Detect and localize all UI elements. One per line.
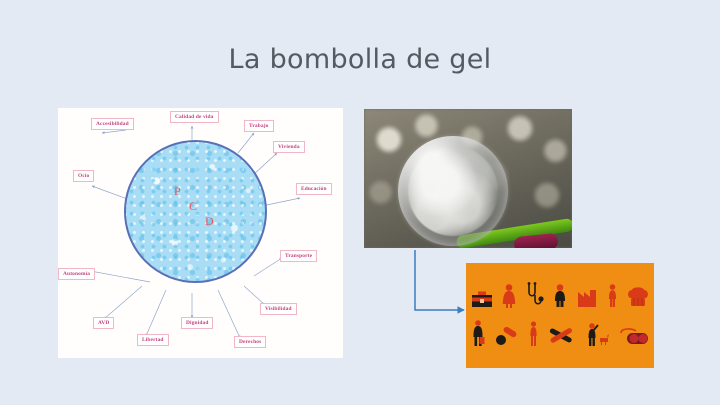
- bubble-letters: P C D: [126, 142, 265, 281]
- person-figure-icon: [553, 284, 567, 313]
- crossed-tools-icon: [548, 323, 574, 352]
- icon-row-bottom: [466, 318, 654, 352]
- diagram-node: Dignidad: [181, 317, 213, 329]
- female-figure-icon: [502, 284, 516, 313]
- sausage-icon: [618, 327, 650, 352]
- bubble-letter-p: P: [174, 184, 181, 199]
- diagram-node: Derechos: [234, 336, 266, 348]
- slide-canvas: La bombolla de gel P C D AccesibilidadCa…: [0, 0, 720, 405]
- factory-icon: [577, 288, 597, 313]
- toolbox-icon: [471, 290, 493, 313]
- diagram-node: Educación: [296, 183, 332, 195]
- diagram-node: Autonomía: [58, 268, 95, 280]
- diagram-node: Calidad de vida: [170, 111, 219, 123]
- stethoscope-icon: [526, 282, 544, 313]
- standing-person-icon: [607, 284, 618, 313]
- bubble-photo: [364, 109, 572, 248]
- diagram-node: Trabajo: [244, 120, 274, 132]
- person-with-dog-icon: [583, 321, 609, 352]
- photo-soap-bubble: [398, 136, 508, 246]
- chef-hat-icon: [627, 286, 649, 313]
- bubble-diagram-card: P C D AccesibilidadCalidad de vidaTrabaj…: [58, 108, 343, 358]
- gel-bubble-circle: P C D: [124, 140, 267, 283]
- diagram-node: Transporte: [280, 250, 317, 262]
- bubble-letter-d: D: [205, 214, 214, 229]
- diagram-node: Libertad: [137, 334, 169, 346]
- microphone-icon: [495, 327, 519, 352]
- worker-with-bag-icon: [471, 320, 486, 352]
- page-title: La bombolla de gel: [0, 44, 720, 75]
- diagram-node: Accesibilidad: [91, 118, 134, 130]
- bubble-letter-c: C: [189, 199, 197, 214]
- diagram-node: Vivienda: [273, 141, 305, 153]
- icon-row-top: [466, 281, 654, 313]
- orange-icon-panel: [466, 263, 654, 368]
- diagram-node: Ocio: [73, 170, 94, 182]
- person-outline-icon: [528, 321, 539, 352]
- diagram-node: Visibilidad: [260, 303, 297, 315]
- diagram-node: AVD: [93, 317, 114, 329]
- photo-frost-pattern: [408, 146, 498, 236]
